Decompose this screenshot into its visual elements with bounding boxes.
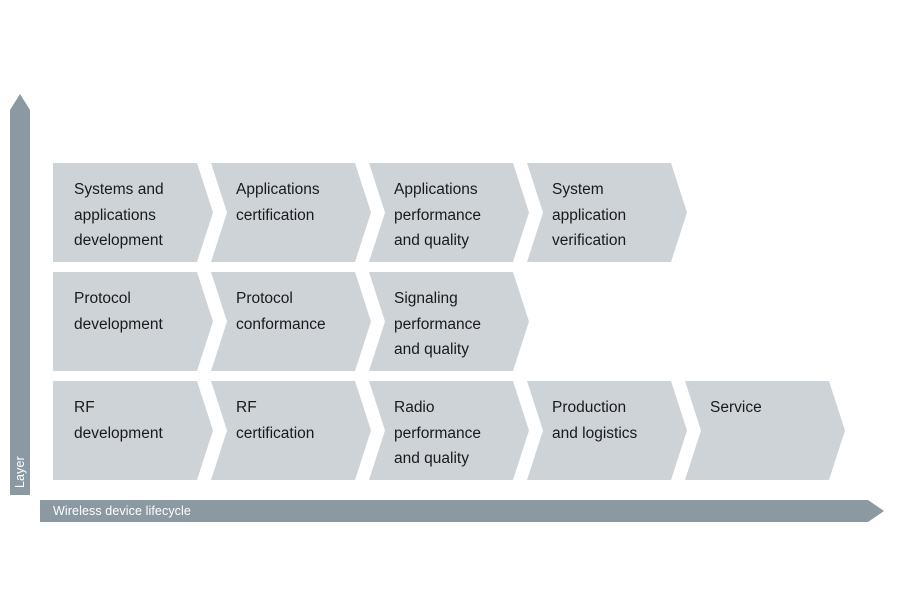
process-stage-shape[interactable] — [53, 272, 213, 371]
process-stage-shape[interactable] — [685, 381, 845, 480]
process-stage-shape[interactable] — [53, 163, 213, 262]
process-stage-shape[interactable] — [369, 272, 529, 371]
process-stage-shape[interactable] — [527, 381, 687, 480]
lifecycle-axis-label: Wireless device lifecycle — [53, 504, 191, 518]
process-stage-shape[interactable] — [527, 163, 687, 262]
chevron-group — [53, 163, 845, 480]
process-stage-shape[interactable] — [53, 381, 213, 480]
layer-axis-label: Layer — [13, 456, 27, 488]
layer-axis-arrow — [10, 94, 30, 495]
process-stage-shape[interactable] — [369, 163, 529, 262]
process-stage-shape[interactable] — [211, 381, 371, 480]
process-stage-shape[interactable] — [369, 381, 529, 480]
process-stage-shape[interactable] — [211, 272, 371, 371]
process-stage-shape[interactable] — [211, 163, 371, 262]
diagram-canvas: Systems and applications developmentAppl… — [0, 0, 900, 600]
